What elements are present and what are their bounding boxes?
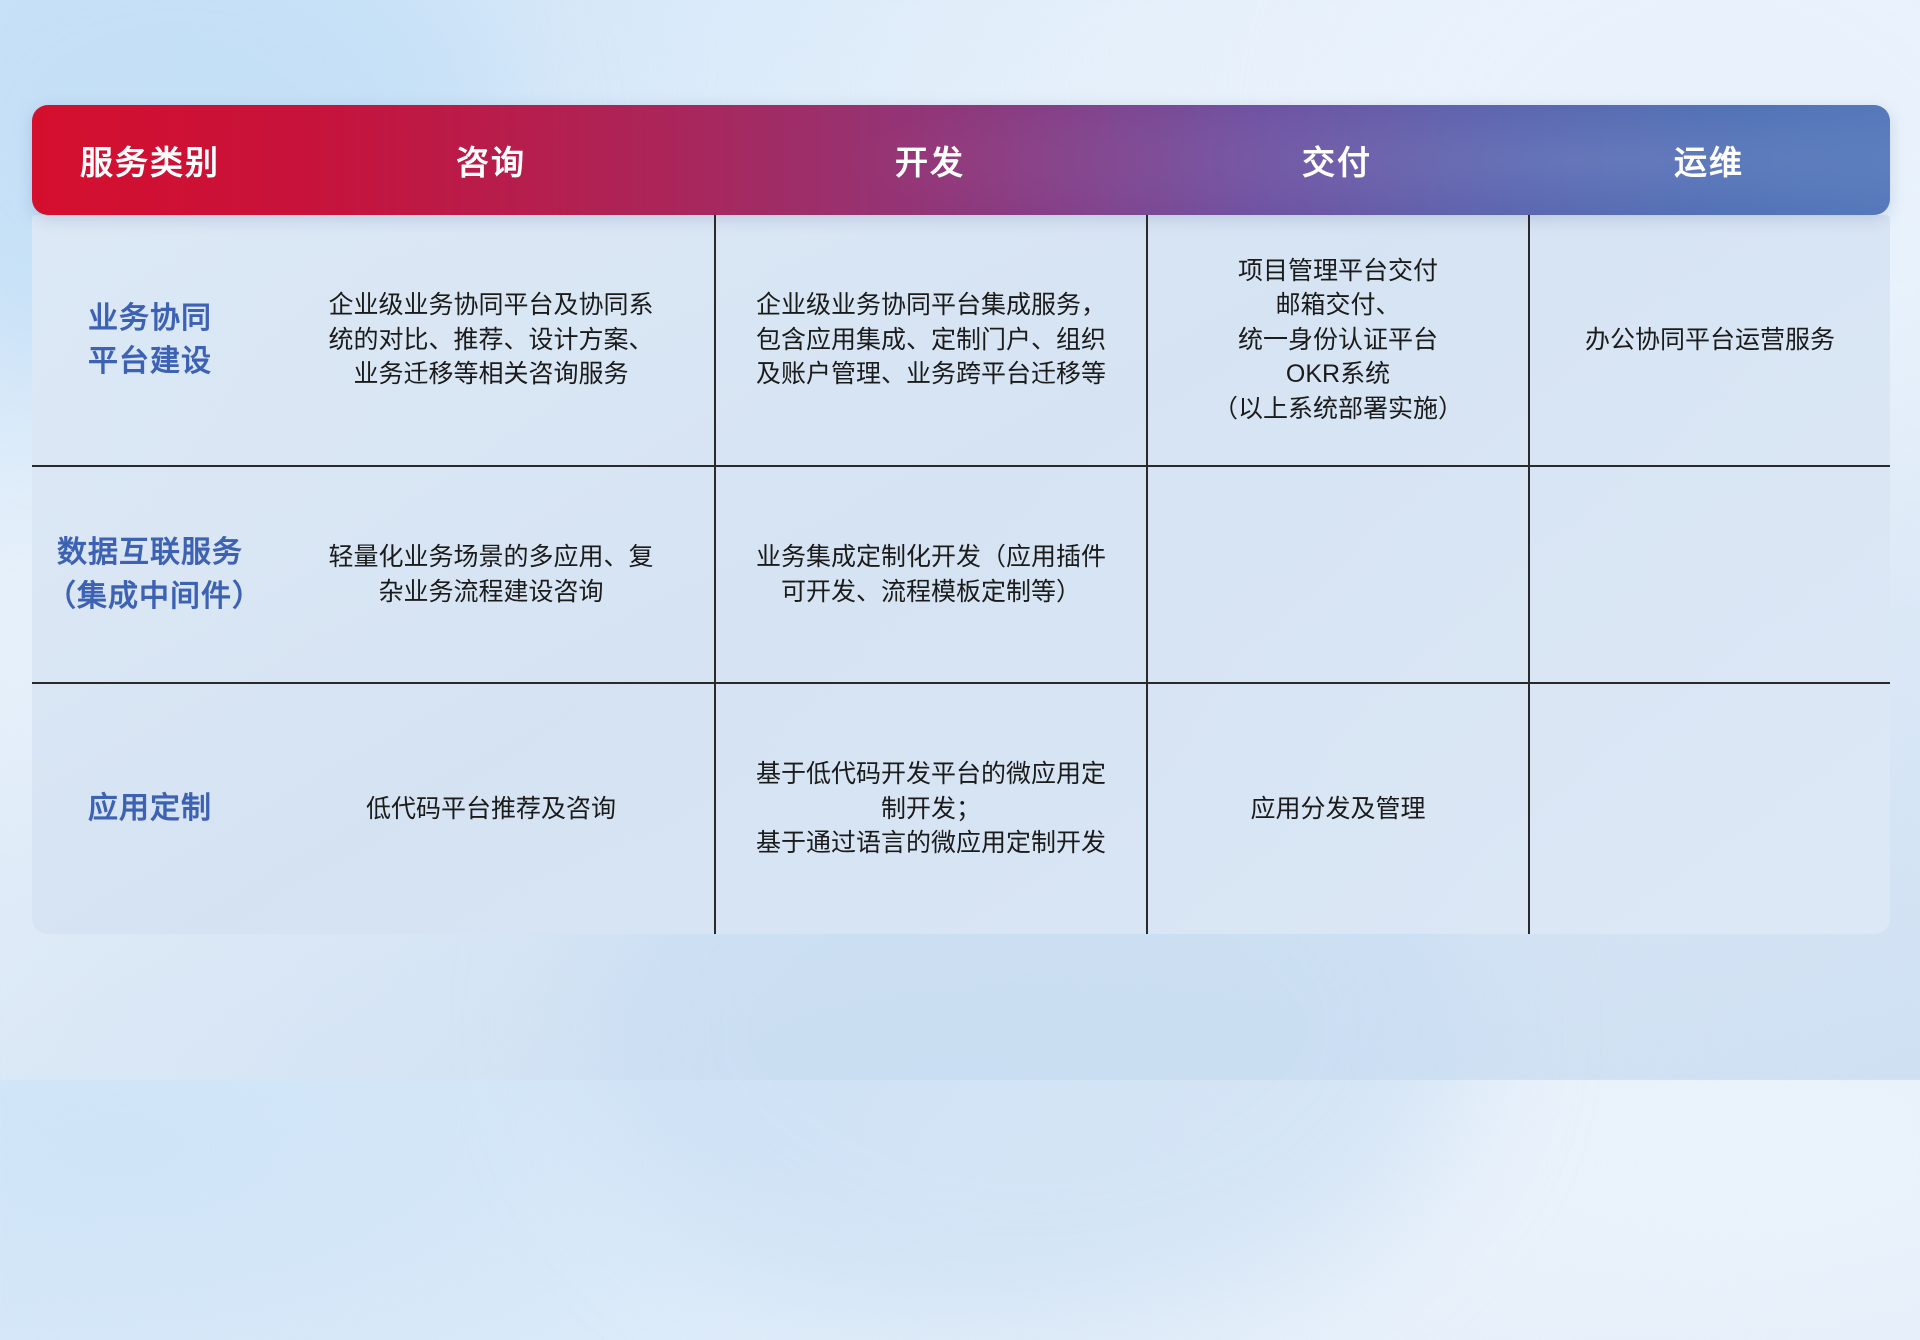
column-header-operations: 运维 (1528, 136, 1890, 184)
cell-delivery: 应用分发及管理 (1146, 684, 1528, 934)
row-category-label: 数据互联服务 （集成中间件） (32, 467, 268, 682)
cell-operations: 办公协同平台运营服务 (1528, 215, 1890, 465)
row-category-label: 业务协同 平台建设 (32, 215, 268, 465)
column-header-delivery: 交付 (1146, 136, 1528, 184)
slide-canvas: 服务类别 咨询 开发 交付 运维 业务协同 平台建设 企业级业务协同平台及协同系… (0, 0, 1920, 1080)
column-header-category: 服务类别 (32, 136, 268, 184)
cell-development: 基于低代码开发平台的微应用定 制开发； 基于通过语言的微应用定制开发 (714, 684, 1146, 934)
column-header-development: 开发 (714, 136, 1146, 184)
table-row: 业务协同 平台建设 企业级业务协同平台及协同系 统的对比、推荐、设计方案、 业务… (32, 215, 1890, 465)
cell-delivery (1146, 467, 1528, 682)
cell-development: 企业级业务协同平台集成服务， 包含应用集成、定制门户、组织 及账户管理、业务跨平… (714, 215, 1146, 465)
cell-development: 业务集成定制化开发（应用插件 可开发、流程模板定制等） (714, 467, 1146, 682)
table-row: 应用定制 低代码平台推荐及咨询 基于低代码开发平台的微应用定 制开发； 基于通过… (32, 682, 1890, 934)
cell-operations (1528, 684, 1890, 934)
cell-delivery: 项目管理平台交付 邮箱交付、 统一身份认证平台 OKR系统 （以上系统部署实施） (1146, 215, 1528, 465)
cell-consulting: 轻量化业务场景的多应用、复 杂业务流程建设咨询 (268, 467, 714, 682)
cell-consulting: 企业级业务协同平台及协同系 统的对比、推荐、设计方案、 业务迁移等相关咨询服务 (268, 215, 714, 465)
table-header-row: 服务类别 咨询 开发 交付 运维 (32, 105, 1890, 215)
table-row: 数据互联服务 （集成中间件） 轻量化业务场景的多应用、复 杂业务流程建设咨询 业… (32, 465, 1890, 682)
row-category-label: 应用定制 (32, 684, 268, 934)
column-header-consulting: 咨询 (268, 136, 714, 184)
cell-operations (1528, 467, 1890, 682)
cell-consulting: 低代码平台推荐及咨询 (268, 684, 714, 934)
table-body: 业务协同 平台建设 企业级业务协同平台及协同系 统的对比、推荐、设计方案、 业务… (32, 215, 1890, 934)
service-matrix-table: 服务类别 咨询 开发 交付 运维 业务协同 平台建设 企业级业务协同平台及协同系… (32, 105, 1890, 934)
